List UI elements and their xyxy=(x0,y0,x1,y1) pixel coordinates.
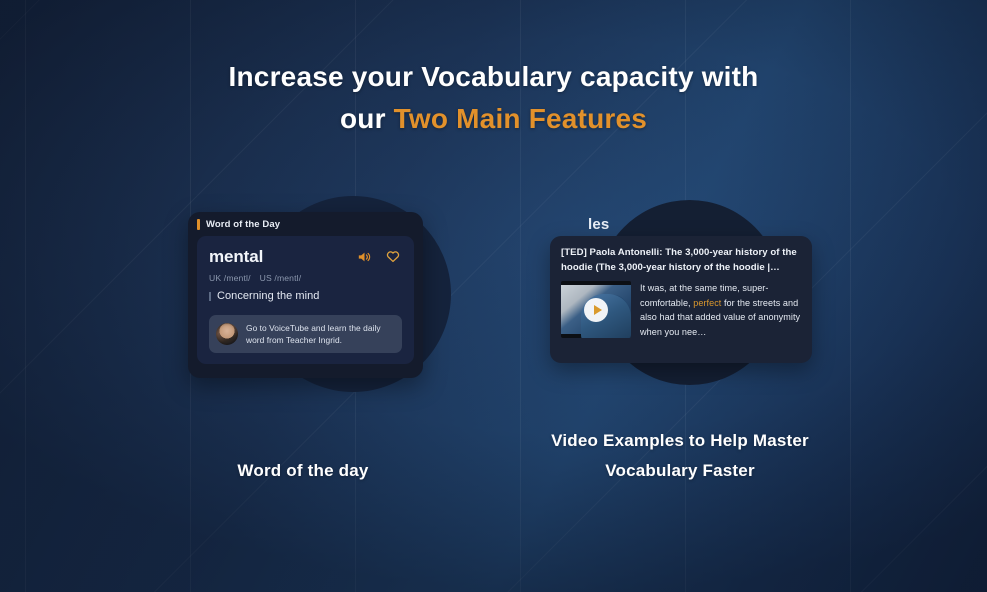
definition-text: Concerning the mind xyxy=(217,290,319,302)
heart-icon[interactable] xyxy=(386,250,400,263)
video-description-highlight: perfect xyxy=(693,298,721,308)
video-example-card[interactable]: [TED] Paola Antonelli: The 3,000-year hi… xyxy=(550,236,812,363)
definition-bar-icon xyxy=(209,292,211,301)
word-actions xyxy=(358,247,402,263)
feature-showcase-slide: Increase your Vocabulary capacity with o… xyxy=(0,0,987,592)
teacher-promo-banner[interactable]: Go to VoiceTube and learn the daily word… xyxy=(209,315,402,353)
video-body: It was, at the same time, super-comforta… xyxy=(561,281,802,339)
phonetics-row: UK /mentl/US /mentl/ xyxy=(209,273,402,283)
speaker-icon[interactable] xyxy=(358,251,371,263)
vocabulary-word: mental xyxy=(209,247,263,267)
word-of-the-day-header: Word of the Day xyxy=(188,212,423,236)
play-icon[interactable] xyxy=(584,298,608,322)
word-of-the-day-label: Word of the Day xyxy=(206,219,280,230)
page-title: Increase your Vocabulary capacity with o… xyxy=(0,56,987,140)
headline-line-2-prefix: our xyxy=(340,103,394,134)
word-row: mental xyxy=(209,247,402,267)
avatar xyxy=(216,323,238,345)
phonetic-us: US /mentl/ xyxy=(260,273,302,283)
video-title: [TED] Paola Antonelli: The 3,000-year hi… xyxy=(561,245,802,275)
teacher-promo-text: Go to VoiceTube and learn the daily word… xyxy=(246,322,393,346)
video-description: It was, at the same time, super-comforta… xyxy=(640,281,802,339)
headline-line-2: our Two Main Features xyxy=(0,98,987,140)
headline-accent: Two Main Features xyxy=(394,103,647,134)
caption-word-of-the-day: Word of the day xyxy=(150,456,456,486)
accent-bar-icon xyxy=(197,219,200,230)
word-of-the-day-panel: mental xyxy=(197,236,414,364)
definition-row: Concerning the mind xyxy=(209,290,402,302)
phonetic-uk: UK /mentl/ xyxy=(209,273,251,283)
video-thumbnail[interactable] xyxy=(561,281,631,338)
headline-line-1: Increase your Vocabulary capacity with xyxy=(229,61,759,92)
video-examples-ghost-label: les xyxy=(588,216,609,233)
word-of-the-day-card[interactable]: Word of the Day mental xyxy=(188,212,423,378)
caption-video-examples: Video Examples to Help Master Vocabulary… xyxy=(520,426,840,486)
